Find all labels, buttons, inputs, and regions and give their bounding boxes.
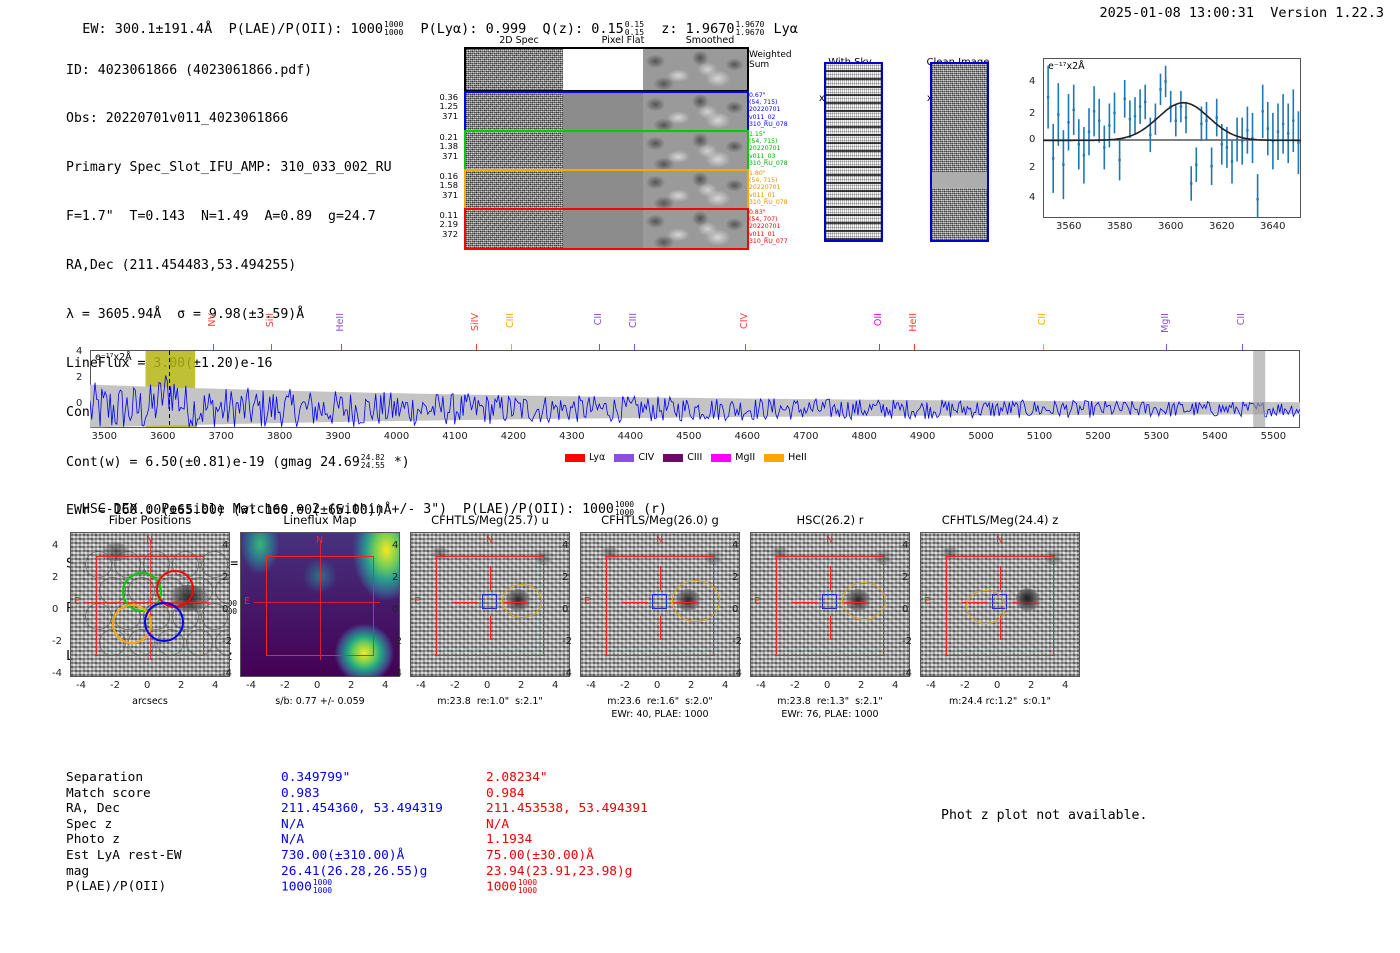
emission-line-label-SiIV: SiIV [470,313,481,331]
cutout-5-ytick-3: -2 [902,636,912,647]
fiber-3-smoothed [643,171,747,209]
timestamp-version: 2025-01-08 13:00:31 Version 1.22.3 [1100,5,1384,21]
blue-est-lya-ew: 730.00(±310.00)Å [281,848,486,864]
info-seeing: F=1.7" T=0.143 N=1.49 A=0.89 g=24.7 [66,209,410,225]
spec2d-fiber-row-2 [464,130,749,172]
cutout-5-xtick-1: -2 [960,680,970,691]
legend-swatch-Lyα [565,454,585,462]
spec2d-image-pixelflat [563,49,643,90]
blue-separation: 0.349799" [281,770,486,786]
cutout-1-ytick-3: -2 [222,636,232,647]
cutout-2-ytick-2: 0 [392,604,398,615]
red-plae-fraction: 10001000 [518,879,537,895]
blue-photo-z: N/A [281,832,486,848]
fiber-2-meta: 1.15" (54, 715) 20220701 v011_03 310_RU_… [749,131,788,167]
cutout-3-xtick-2: 0 [654,680,660,691]
blue-mag: 26.41(26.28,26.55)g [281,864,486,880]
red-match-ellipse-5 [966,590,1006,624]
compass-east-2: E [414,596,420,607]
red-separation: 2.08234" [486,770,746,786]
cutout-5-xtick-4: 4 [1062,680,1068,691]
cutout-0-xtick-0: -4 [76,680,86,691]
cutout-4-ytick-0: 4 [732,540,738,551]
cutout-3-ytick-2: 0 [562,604,568,615]
cutout-title-5: CFHTLS/Meg(24.4) z [890,513,1110,527]
red-est-lya-ew: 75.00(±30.00)Å [486,848,746,864]
cutout-4-ytick-1: 2 [732,572,738,583]
cutout-4-xtick-0: -4 [756,680,766,691]
match-table: Separation 0.349799" 2.08234" Match scor… [66,770,746,895]
spectrum-xtick-5100: 5100 [1027,431,1052,442]
spec2d-weighted-sum-row [464,47,749,92]
compass-north-3: N [656,535,663,546]
linefit-xtick-0: 3560 [1056,221,1081,232]
cutout-0-xtick-3: 2 [178,680,184,691]
spectrum-ytick-2: 2 [76,372,82,383]
spectrum-xtick-5500: 5500 [1261,431,1286,442]
info-spec-slot: Primary Spec_Slot_IFU_AMP: 310_033_002_R… [66,160,410,176]
row-label-separation: Separation [66,770,281,786]
spec2d-image-smoothed [643,49,747,90]
info-lambda: λ = 3605.94Å σ = 9.98(±3.59)Å [66,307,410,323]
spec2d-image-2dspec [466,49,563,90]
red-match-ellipse-4 [842,582,886,620]
cutout-0-xtick-4: 4 [212,680,218,691]
row-label-est-lya-ew: Est LyA rest-EW [66,848,281,864]
fiber-4-2dspec [466,210,563,248]
blue-plae: 100010001000 [281,879,486,895]
cutout-0-ytick-2: 0 [52,604,58,615]
red-radec: 211.453538, 53.494391 [486,801,746,817]
cutout-4-ytick-2: 0 [732,604,738,615]
linefit-xtick-1: 3580 [1107,221,1132,232]
fiber-2-pixelflat [563,132,643,170]
gmag-fraction: 24.8224.55 [361,454,385,470]
red-plae: 100010001000 [486,879,746,895]
cutout-2-ytick-4: -4 [392,668,402,679]
fiber-1-2dspec [466,93,563,131]
spectrum-canvas [90,350,1300,428]
compass-east-0: E [74,596,80,607]
spectrum-xtick-4600: 4600 [735,431,760,442]
spectrum-xtick-3900: 3900 [325,431,350,442]
spectrum-xtick-4500: 4500 [676,431,701,442]
cutout-1-xtick-0: -4 [246,680,256,691]
cutout-overlay-3: NE [580,532,740,677]
cutout-4-ytick-3: -2 [732,636,742,647]
row-label-mag: mag [66,864,281,880]
emission-line-label-NV: NV [207,313,218,327]
cutout-panel-4[interactable]: NE [750,532,910,677]
cutout-4-xtick-1: -2 [790,680,800,691]
linefit-ytick-4: 4 [1029,76,1035,87]
cutout-5-xtick-0: -4 [926,680,936,691]
emission-line-label-HeII: HeII [908,313,919,332]
compass-east-4: E [754,596,760,607]
legend-swatch-HeII [764,454,784,462]
compass-east-3: E [584,596,590,607]
cutout-panel-0[interactable]: NE [70,532,230,677]
red-match-ellipse-3 [672,580,720,622]
emission-line-label-CII: CII [1037,313,1048,325]
spectrum-xtick-4300: 4300 [559,431,584,442]
cutout-0-ytick-3: -2 [52,636,62,647]
legend-label-HeII: HeII [788,452,807,463]
emission-line-label-CIII: CIII [628,313,639,328]
blue-match-score: 0.983 [281,786,486,802]
table-row: Separation 0.349799" 2.08234" [66,770,746,786]
linefit-xtick-3: 3620 [1209,221,1234,232]
spectrum-xtick-5200: 5200 [1085,431,1110,442]
cutout-2-xtick-1: -2 [450,680,460,691]
spectrum-xtick-5300: 5300 [1144,431,1169,442]
cutout-4-ytick-4: -4 [732,668,742,679]
fiber-3-meta: 1.80" (54, 715) 20220701 v011_01 310_RU_… [749,170,788,206]
cutout-overlay-1: NE [240,532,400,677]
spectrum-ytick-0: 0 [76,398,82,409]
spectrum-xtick-4200: 4200 [501,431,526,442]
row-label-radec: RA, Dec [66,801,281,817]
cutout-3-xtick-1: -2 [620,680,630,691]
spectrum-xtick-5000: 5000 [968,431,993,442]
compass-north-2: N [486,535,493,546]
blue-match-marker-3 [652,594,667,609]
spectrum-xtick-4700: 4700 [793,431,818,442]
fiber-2-metrics: 0.21 1.38 371 [430,133,458,161]
cutout-4-xtick-2: 0 [824,680,830,691]
legend-label-Lyα: Lyα [589,452,605,463]
table-row: P(LAE)/P(OII) 100010001000 100010001000 [66,879,746,895]
row-label-plae: P(LAE)/P(OII) [66,879,281,895]
cutout-5-ytick-2: 0 [902,604,908,615]
info-cont-w: Cont(w) = 6.50(±0.81)e-19 (gmag 24.6924.… [66,454,410,470]
linefit-ytick-3: 2 [1029,108,1035,119]
cutout-3-ytick-3: -2 [562,636,572,647]
spec2d-fiber-row-1 [464,91,749,133]
red-match-score: 0.984 [486,786,746,802]
spectrum-xtick-3600: 3600 [150,431,175,442]
cutout-3-ytick-0: 4 [562,540,568,551]
spectrum-xtick-4900: 4900 [910,431,935,442]
emission-line-label-CIV: CIV [739,313,750,329]
cutout-3-xtick-4: 4 [722,680,728,691]
spectrum-xtick-4100: 4100 [442,431,467,442]
row-label-spec-z: Spec z [66,817,281,833]
table-row: Spec z N/A N/A [66,817,746,833]
emission-line-label-CII: CII [593,313,604,325]
cutout-3-xtick-3: 2 [688,680,694,691]
cutout-caption2-4: EWr: 76, PLAE: 1000 [715,709,945,721]
fiber-3-metrics: 0.16 1.58 371 [430,172,458,200]
emission-line-label-OII: OII [873,313,884,326]
cutout-panel-2[interactable]: NE [410,532,570,677]
spec2d-col-title-smoothed: Smoothed [665,35,755,46]
fiber-4-pixelflat [563,210,643,248]
clean-image-cutout [930,62,989,242]
cutout-overlay-0: NE [70,532,230,677]
legend-item-CIV: CIV [614,452,654,463]
compass-east-1: E [244,596,250,607]
fiber-1-meta: 0.67" (54, 715) 20220701 v011_02 310_RU_… [749,92,788,128]
weighted-sum-label: Weighted Sum [749,50,792,70]
fiber-1-pixelflat [563,93,643,131]
cutout-3-ytick-1: 2 [562,572,568,583]
linefit-xtick-4: 3640 [1260,221,1285,232]
cutout-overlay-2: NE [410,532,570,677]
blue-match-marker-4 [822,594,837,609]
cutout-1-ytick-4: -4 [222,668,232,679]
cutout-2-ytick-1: 2 [392,572,398,583]
cutout-overlay-5: NE [920,532,1080,677]
table-row: mag 26.41(26.28,26.55)g 23.94(23.91,23.9… [66,864,746,880]
cutout-0-xtick-2: 0 [144,680,150,691]
legend-item-HeII: HeII [764,452,807,463]
cutout-1-xtick-2: 0 [314,680,320,691]
info-obs: Obs: 20220701v011_4023061866 [66,111,410,127]
table-row: RA, Dec 211.454360, 53.494319 211.453538… [66,801,746,817]
fiber-1-smoothed [643,93,747,131]
fiber-ring-3 [144,602,184,642]
spectrum-xtick-5400: 5400 [1202,431,1227,442]
spectrum-xtick-4800: 4800 [851,431,876,442]
cutout-2-ytick-3: -2 [392,636,402,647]
table-row: Photo z N/A 1.1934 [66,832,746,848]
fiber-4-metrics: 0.11 2.19 372 [430,211,458,239]
fiber-4-smoothed [643,210,747,248]
legend-swatch-MgII [711,454,731,462]
legend-item-Lyα: Lyα [565,452,605,463]
red-photo-z: 1.1934 [486,832,746,848]
legend-swatch-CIII [663,454,683,462]
spectrum-xtick-4000: 4000 [384,431,409,442]
spectrum-xtick-3800: 3800 [267,431,292,442]
cutout-caption-5: m:24.4 rc:1.2" s:0.1" [885,696,1115,708]
spec2d-fiber-row-4 [464,208,749,250]
fiber-2-2dspec [466,132,563,170]
fiber-2-smoothed [643,132,747,170]
cutout-1-ytick-0: 4 [222,540,228,551]
cutout-5-xtick-2: 0 [994,680,1000,691]
linefit-ytick-1: 2 [1029,162,1035,173]
cutout-1-xtick-3: 2 [348,680,354,691]
spectrum-legend: LyαCIVCIIIMgIIHeII [565,452,807,463]
fiber-3-pixelflat [563,171,643,209]
cutout-2-ytick-0: 4 [392,540,398,551]
cutout-0-ytick-4: -4 [52,668,62,679]
emission-line-label-CIII: CIII [505,313,516,328]
full-spectrum-plot: e⁻¹⁷x2Å 4 2 0 [90,350,1300,428]
spectrum-ytick-4: 4 [76,346,82,357]
cutout-0-xtick-1: -2 [110,680,120,691]
legend-label-CIII: CIII [687,452,702,463]
cutout-3-ytick-4: -4 [562,668,572,679]
header-line-id: Lyα [774,21,798,37]
spec2d-fiber-row-3 [464,169,749,211]
cutout-0-ytick-1: 2 [52,572,58,583]
linefit-ytick-2: 0 [1029,134,1035,145]
spectrum-xtick-4400: 4400 [618,431,643,442]
emission-line-label-MgII: MgII [1160,313,1171,333]
blue-plae-fraction: 10001000 [313,879,332,895]
cutout-panel-5[interactable]: NE [920,532,1080,677]
red-spec-z: N/A [486,817,746,833]
blue-match-marker-2 [482,594,497,609]
cutout-1-xtick-1: -2 [280,680,290,691]
red-mag: 23.94(23.91,23.98)g [486,864,746,880]
spec2d-col-title-pixelflat: Pixel Flat [578,35,668,46]
info-id: ID: 4023061866 (4023061866.pdf) [66,63,410,79]
emission-line-label-CII: CII [1236,313,1247,325]
compass-north-4: N [826,535,833,546]
row-label-match-score: Match score [66,786,281,802]
photz-unavailable-message: Phot z plot not available. [941,808,1147,823]
cutout-panel-1[interactable]: NE [240,532,400,677]
cutout-5-ytick-0: 4 [902,540,908,551]
cutout-1-ytick-1: 2 [222,572,228,583]
info-radec: RA,Dec (211.454483,53.494255) [66,258,410,274]
compass-east-5: E [924,596,930,607]
fiber-4-meta: 0.83" (54, 707) 20220701 v011_01 310_RU_… [749,209,788,245]
legend-item-MgII: MgII [711,452,755,463]
linefit-canvas [1043,58,1301,218]
table-row: Est LyA rest-EW 730.00(±310.00)Å 75.00(±… [66,848,746,864]
cutout-4-xtick-4: 4 [892,680,898,691]
cutout-2-xtick-2: 0 [484,680,490,691]
emission-line-label-SiII: SiII [265,313,276,327]
table-row: Match score 0.983 0.984 [66,786,746,802]
with-sky-cutout [824,62,883,242]
row-label-photo-z: Photo z [66,832,281,848]
legend-item-CIII: CIII [663,452,702,463]
legend-label-MgII: MgII [735,452,755,463]
cutout-panel-3[interactable]: NE [580,532,740,677]
emission-line-label-HeII: HeII [335,313,346,332]
cutout-1-xtick-4: 4 [382,680,388,691]
line-fit-plot: e⁻¹⁷x2Å 4 2 0 2 4 3560 3580 3600 3620 36… [1043,58,1301,218]
blue-spec-z: N/A [281,817,486,833]
cutout-5-ytick-4: -4 [902,668,912,679]
cutout-overlay-4: NE [750,532,910,677]
legend-swatch-CIV [614,454,634,462]
linefit-ytick-0: 4 [1029,192,1035,203]
cutout-3-xtick-0: -4 [586,680,596,691]
blue-radec: 211.454360, 53.494319 [281,801,486,817]
spec2d-col-title-2dspec: 2D Spec [464,35,574,46]
linefit-xtick-2: 3600 [1158,221,1183,232]
cutout-2-xtick-4: 4 [552,680,558,691]
cutout-1-ytick-2: 0 [222,604,228,615]
fiber-1-metrics: 0.36 1.25 371 [430,93,458,121]
red-match-ellipse-2 [502,584,542,618]
cutout-0-ytick-0: 4 [52,540,58,551]
spectrum-xtick-3500: 3500 [92,431,117,442]
legend-label-CIV: CIV [638,452,654,463]
cutout-5-xtick-3: 2 [1028,680,1034,691]
cutout-4-xtick-3: 2 [858,680,864,691]
spectrum-xtick-3700: 3700 [208,431,233,442]
cutout-5-ytick-1: 2 [902,572,908,583]
cutout-2-xtick-3: 2 [518,680,524,691]
cutout-2-xtick-0: -4 [416,680,426,691]
fiber-3-2dspec [466,171,563,209]
compass-north-5: N [996,535,1003,546]
